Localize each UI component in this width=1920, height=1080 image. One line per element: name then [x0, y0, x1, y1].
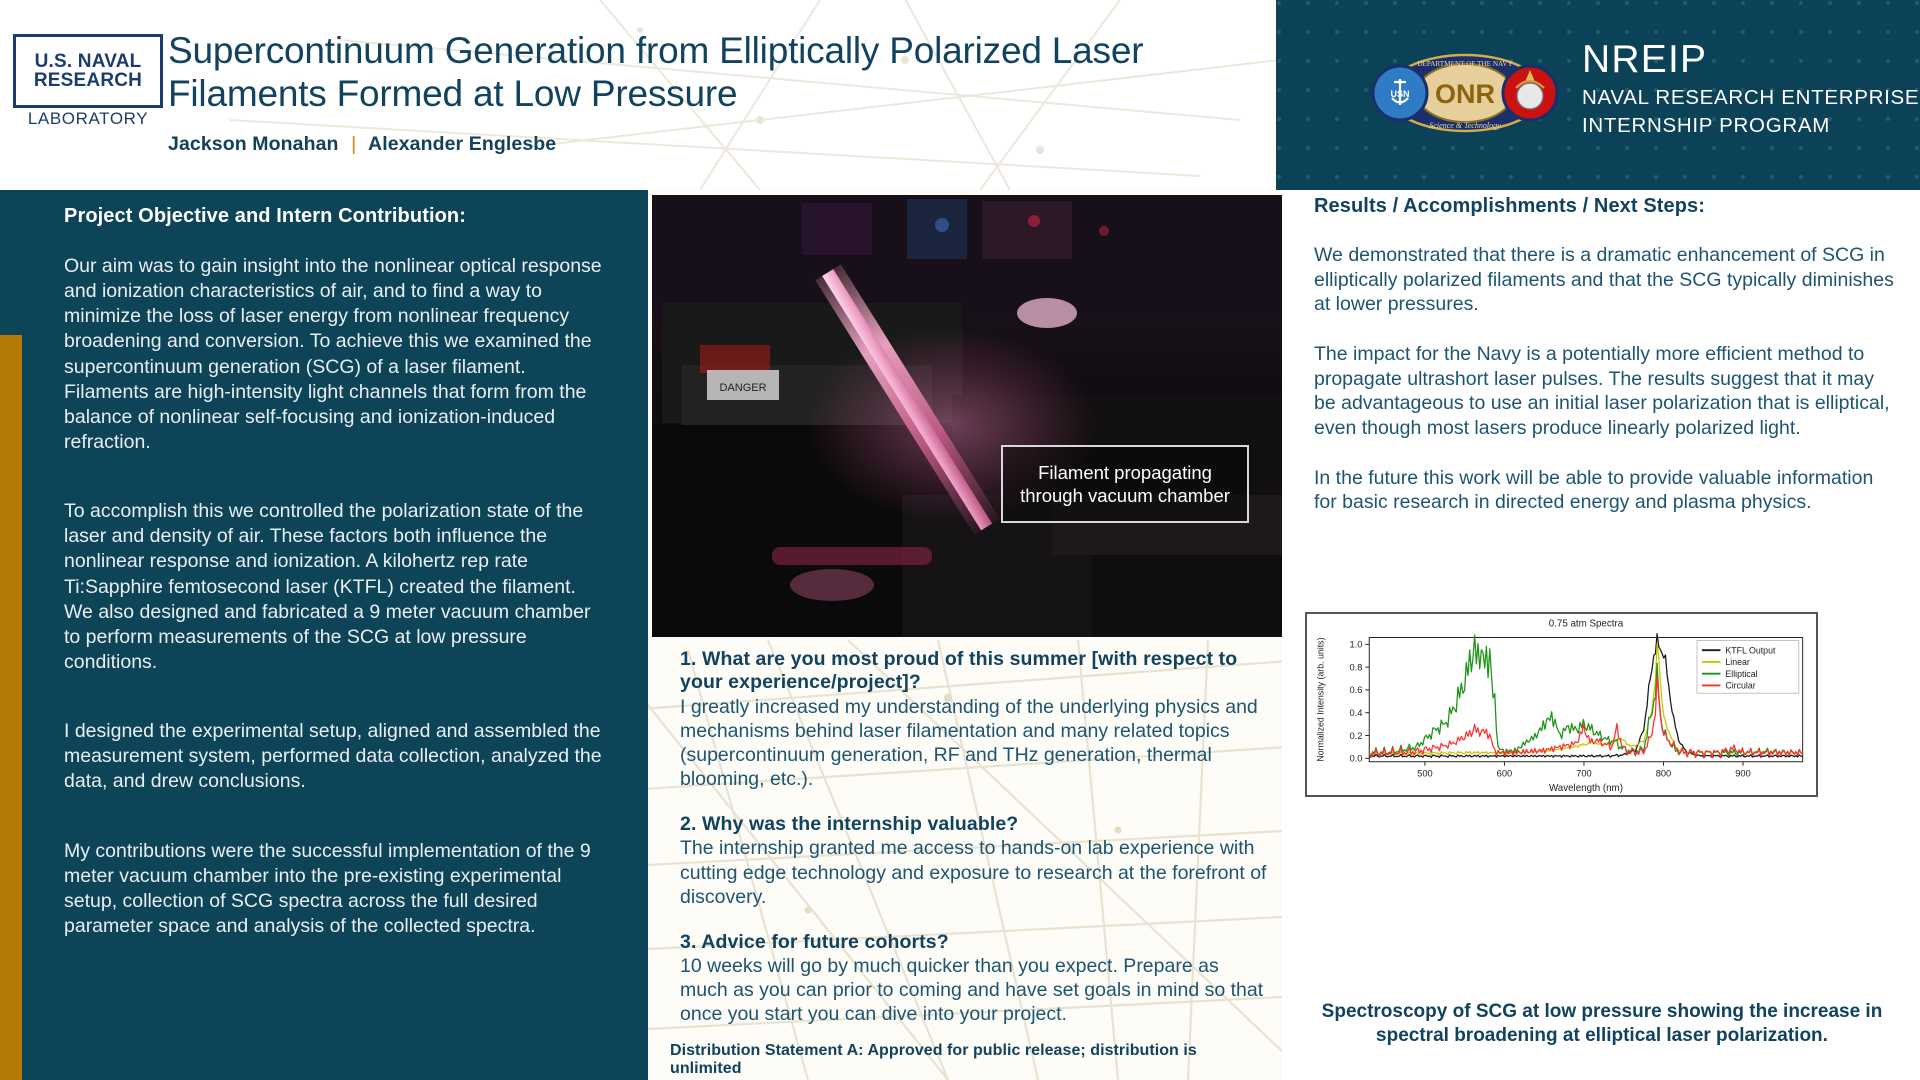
left-column-content: Project Objective and Intern Contributio…	[64, 190, 609, 939]
spectra-chart-svg: 0.75 atm Spectra5006007008009000.00.20.4…	[1307, 614, 1816, 795]
svg-text:DEPARTMENT OF THE NAVY: DEPARTMENT OF THE NAVY	[1417, 60, 1513, 68]
left-paragraph-3: I designed the experimental setup, align…	[64, 719, 609, 794]
page-title: Supercontinuum Generation from Elliptica…	[168, 30, 1228, 116]
svg-text:1.0: 1.0	[1349, 640, 1362, 650]
svg-text:KTFL Output: KTFL Output	[1725, 645, 1776, 655]
svg-text:0.8: 0.8	[1349, 662, 1362, 672]
qa-answer-1: I greatly increased my understanding of …	[680, 695, 1268, 791]
svg-text:700: 700	[1576, 768, 1592, 778]
nrl-logo-line2: RESEARCH	[34, 71, 142, 90]
nrl-logo-box: U.S. NAVAL RESEARCH	[13, 34, 163, 108]
svg-text:0.2: 0.2	[1349, 731, 1362, 741]
qa-item: 2. Why was the internship valuable? The …	[680, 813, 1268, 909]
svg-text:ONR: ONR	[1435, 79, 1495, 109]
filament-photo-image: DANGER	[652, 195, 1282, 637]
nreip-banner: DEPARTMENT OF THE NAVY Science & Technol…	[1276, 0, 1920, 190]
svg-text:Circular: Circular	[1725, 681, 1755, 691]
center-column: DANGER Filament propagating through vacu…	[648, 190, 1282, 1080]
left-paragraph-2: To accomplish this we controlled the pol…	[64, 499, 609, 675]
photo-caption: Filament propagating through vacuum cham…	[1001, 445, 1249, 523]
svg-text:600: 600	[1497, 768, 1513, 778]
nreip-subtitle-line2: INTERNSHIP PROGRAM	[1582, 112, 1919, 140]
svg-text:USN: USN	[1390, 89, 1409, 99]
svg-text:DANGER: DANGER	[719, 382, 766, 394]
author-list: Jackson Monahan | Alexander Englesbe	[168, 133, 1228, 156]
chart-caption: Spectroscopy of SCG at low pressure show…	[1292, 1000, 1912, 1048]
svg-text:0.0: 0.0	[1349, 754, 1362, 764]
nreip-acronym: NREIP	[1582, 40, 1919, 79]
svg-text:0.6: 0.6	[1349, 685, 1362, 695]
onr-seal-icon: DEPARTMENT OF THE NAVY Science & Technol…	[1370, 48, 1560, 138]
svg-text:Elliptical: Elliptical	[1725, 669, 1757, 679]
qa-answer-2: The internship granted me access to hand…	[680, 836, 1268, 908]
qa-question-2: 2. Why was the internship valuable?	[680, 813, 1268, 836]
qa-item: 3. Advice for future cohorts? 10 weeks w…	[680, 931, 1268, 1027]
poster-header: U.S. NAVAL RESEARCH LABORATORY Supercont…	[0, 0, 1920, 190]
right-heading: Results / Accomplishments / Next Steps:	[1314, 195, 1894, 218]
left-paragraph-4: My contributions were the successful imp…	[64, 839, 609, 940]
right-column-content: Results / Accomplishments / Next Steps: …	[1314, 190, 1894, 515]
qa-section: 1. What are you most proud of this summe…	[680, 648, 1268, 1048]
qa-question-1: 1. What are you most proud of this summe…	[680, 648, 1268, 695]
author-name-2: Alexander Englesbe	[368, 133, 556, 155]
right-paragraph-1: We demonstrated that there is a dramatic…	[1314, 243, 1894, 317]
nrl-logo: U.S. NAVAL RESEARCH LABORATORY	[12, 34, 164, 130]
svg-text:Science & Technology: Science & Technology	[1429, 121, 1501, 130]
author-name-1: Jackson Monahan	[168, 133, 339, 155]
qa-answer-3: 10 weeks will go by much quicker than yo…	[680, 954, 1268, 1026]
nrl-logo-line1: U.S. NAVAL	[35, 52, 142, 71]
qa-question-3: 3. Advice for future cohorts?	[680, 931, 1268, 954]
svg-text:Normalized Intensity (arb. uni: Normalized Intensity (arb. units)	[1315, 637, 1325, 761]
svg-text:0.75 atm Spectra: 0.75 atm Spectra	[1549, 619, 1624, 630]
svg-text:800: 800	[1656, 768, 1672, 778]
svg-text:Linear: Linear	[1725, 657, 1750, 667]
svg-text:Wavelength (nm): Wavelength (nm)	[1549, 783, 1623, 794]
nreip-subtitle-line1: NAVAL RESEARCH ENTERPRISE	[1582, 84, 1919, 112]
svg-text:500: 500	[1417, 768, 1433, 778]
right-paragraph-3: In the future this work will be able to …	[1314, 466, 1894, 515]
filament-photograph: DANGER Filament propagating through vacu…	[652, 195, 1282, 637]
qa-item: 1. What are you most proud of this summe…	[680, 648, 1268, 791]
author-separator: |	[344, 133, 363, 155]
nrl-logo-line3: LABORATORY	[28, 109, 148, 129]
svg-text:0.4: 0.4	[1349, 708, 1362, 718]
spectra-chart: 0.75 atm Spectra5006007008009000.00.20.4…	[1305, 612, 1818, 797]
left-paragraph-1: Our aim was to gain insight into the non…	[64, 254, 609, 455]
left-accent-bar	[0, 335, 22, 1080]
distribution-statement: Distribution Statement A: Approved for p…	[670, 1042, 1270, 1078]
title-block: Supercontinuum Generation from Elliptica…	[168, 30, 1228, 156]
left-heading: Project Objective and Intern Contributio…	[64, 205, 609, 228]
svg-text:900: 900	[1735, 768, 1751, 778]
nreip-text-block: NREIP NAVAL RESEARCH ENTERPRISE INTERNSH…	[1582, 40, 1919, 139]
right-paragraph-2: The impact for the Navy is a potentially…	[1314, 342, 1894, 441]
left-column: Project Objective and Intern Contributio…	[0, 190, 648, 1080]
